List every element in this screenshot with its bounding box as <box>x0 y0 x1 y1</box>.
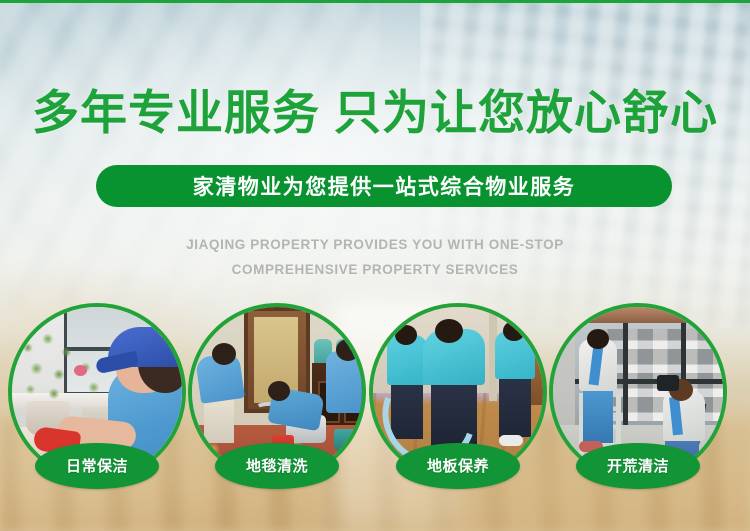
worker-head-shape <box>212 343 236 365</box>
window-mullion-shape <box>623 323 628 427</box>
worker-head-shape <box>503 321 525 341</box>
worker-legs-shape <box>583 387 613 443</box>
top-accent-rule <box>0 0 750 3</box>
service-label-badge: 地毯清洗 <box>215 443 339 489</box>
handheld-tool-shape <box>657 375 679 391</box>
service-label-text: 地毯清洗 <box>246 455 308 476</box>
promotional-banner: 多年专业服务只为让您放心舒心 家清物业为您提供一站式综合物业服务 JIAQING… <box>0 0 750 531</box>
service-label-text: 地板保养 <box>427 455 489 476</box>
service-label-badge: 开荒清洁 <box>576 443 700 489</box>
teal-bucket-shape <box>334 429 358 451</box>
service-item-floor-maintenance[interactable]: 地板保养 <box>369 303 547 481</box>
subtitle-line-1: JIAQING PROPERTY PROVIDES YOU WITH ONE-S… <box>0 233 750 258</box>
ceiling-beam-shape <box>581 307 711 323</box>
service-item-daily-cleaning[interactable]: 日常保洁 <box>8 303 186 481</box>
worker-head-shape <box>395 325 417 345</box>
service-circle-row: 日常保洁 <box>0 303 750 488</box>
worker-head-shape <box>587 329 609 349</box>
tagline-pill: 家清物业为您提供一站式综合物业服务 <box>96 165 672 207</box>
headline-part-1: 多年专业服务 <box>32 86 320 139</box>
service-label-badge: 日常保洁 <box>35 443 159 489</box>
service-label-text: 开荒清洁 <box>607 455 669 476</box>
service-item-carpet-cleaning[interactable]: 地毯清洗 <box>188 303 366 481</box>
worker-legs-shape <box>499 375 531 437</box>
headline-part-2: 只为让您放心舒心 <box>334 86 718 139</box>
pink-flower-shape <box>74 365 87 376</box>
subtitle-english: JIAQING PROPERTY PROVIDES YOU WITH ONE-S… <box>0 233 750 283</box>
service-item-rough-cleaning[interactable]: 开荒清洁 <box>549 303 727 481</box>
worker-legs-shape <box>204 397 234 443</box>
service-label-text: 日常保洁 <box>66 455 128 476</box>
service-label-badge: 地板保养 <box>396 443 520 489</box>
worker-head-shape <box>336 339 360 361</box>
tagline-text: 家清物业为您提供一站式综合物业服务 <box>193 171 576 201</box>
subtitle-line-2: COMPREHENSIVE PROPERTY SERVICES <box>0 258 750 283</box>
potted-plant-shape <box>18 333 80 407</box>
worker-shoe-shape <box>499 435 523 446</box>
page-title: 多年专业服务只为让您放心舒心 <box>0 88 750 137</box>
worker-head-shape <box>268 381 290 401</box>
worker-head-shape <box>435 319 463 343</box>
